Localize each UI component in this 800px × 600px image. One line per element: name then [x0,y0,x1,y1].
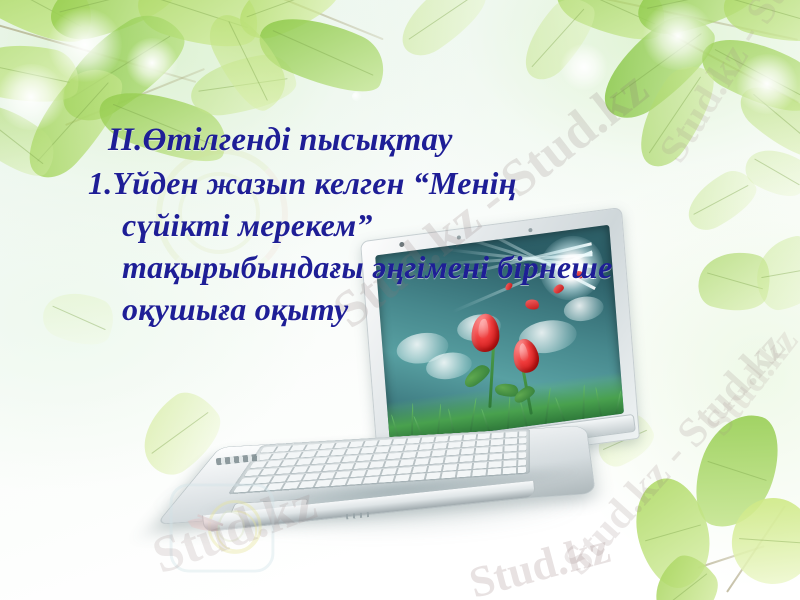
leaf [739,137,800,206]
leaf-stem [0,23,196,83]
leaf [230,0,347,46]
grass-blade [470,398,478,434]
leaf [201,2,295,119]
watermark-right-middle: Stud.kz [696,320,800,444]
grass-blade [582,385,585,419]
grass-blade [595,387,602,417]
leaf [44,1,198,133]
leaf [640,546,730,600]
grass-blade [544,388,551,424]
bokeh-dot [352,92,361,101]
leaf-stem [602,0,798,41]
grass-blade [481,408,490,431]
body-text-list: 1.Үйден жазып келген “Менің сүйікті мере… [88,162,748,331]
leaf [42,0,182,47]
leaf [729,495,800,587]
light-glow [0,64,66,130]
light-glow [48,8,122,82]
leaf-stem [262,0,383,40]
leaf [0,87,65,190]
leaf [624,470,722,595]
grass-blade [554,397,565,422]
slide-canvas: II.Өтілгенді пысықтау 1.Үйден жазып келг… [0,0,800,600]
page-title: II.Өтілгенді пысықтау [108,124,748,158]
leaf [0,0,104,58]
leaf-stem [65,68,205,126]
leaf [693,20,800,127]
grass-blade [615,391,622,415]
leaf [549,0,675,54]
leaf [586,2,729,130]
leaf [388,0,496,65]
leaf [131,0,267,61]
leaf [509,0,606,88]
light-glow [642,2,714,70]
leaf [684,403,791,538]
grass-blade [447,408,455,436]
leaf [718,0,800,54]
leaf [187,51,299,119]
slide-text-block: II.Өтілгенді пысықтау 1.Үйден жазып келг… [88,124,748,331]
light-glow [126,38,178,88]
light-glow [736,54,798,114]
leaf-stem [726,505,786,592]
leaf [0,33,85,113]
leaf-stem [657,27,799,104]
body-line-1: 1.Үйден жазып келген “Менің [88,162,748,204]
grass-blade [519,399,528,426]
light-glow [560,44,608,90]
body-line-2: сүйікті мерекем” [88,204,748,246]
leaf [251,0,395,108]
body-line-4: оқушыға оқыту [88,288,748,330]
body-line-3: тақырыбындағы әңгімені бірнеше [88,246,748,288]
leaf-stem [697,545,764,569]
grass-blade [507,396,511,428]
leaf [750,233,800,313]
leaf [631,0,761,40]
